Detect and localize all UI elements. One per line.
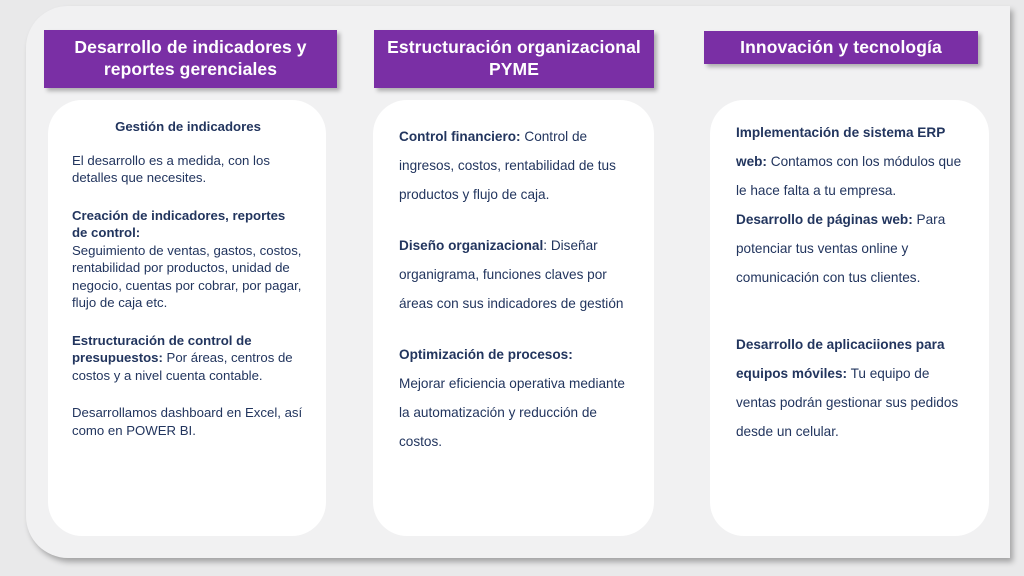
column-1-block-1: El desarrollo es a medida, con los detal… bbox=[72, 152, 304, 187]
column-1-block-2-text: Seguimiento de ventas, gastos, costos, r… bbox=[72, 243, 301, 311]
column-header-2-label: Estructuración organizacional PYME bbox=[382, 37, 646, 81]
column-3-block-1: Implementación de sistema ERP web: Conta… bbox=[736, 118, 971, 205]
column-panel-1: Gestión de indicadores El desarrollo es … bbox=[48, 100, 326, 536]
column-2-block-2-bold: Diseño organizacional bbox=[399, 238, 543, 253]
spacer bbox=[72, 187, 304, 207]
spacer bbox=[399, 209, 632, 231]
column-3-block-3: Desarrollo de aplicaciiones para equipos… bbox=[736, 330, 971, 446]
column-header-1: Desarrollo de indicadores y reportes ger… bbox=[44, 30, 337, 88]
column-3-block-2: Desarrollo de páginas web: Para potencia… bbox=[736, 205, 971, 292]
column-header-1-label: Desarrollo de indicadores y reportes ger… bbox=[52, 37, 329, 81]
column-2-block-1: Control financiero: Control de ingresos,… bbox=[399, 122, 632, 209]
column-2-block-1-bold: Control financiero: bbox=[399, 129, 521, 144]
spacer bbox=[399, 318, 632, 340]
column-1-block-3: Estructuración de control de presupuesto… bbox=[72, 332, 304, 385]
slide-root: Desarrollo de indicadores y reportes ger… bbox=[0, 0, 1024, 576]
column-2-block-3-bold: Optimización de procesos: bbox=[399, 347, 573, 362]
spacer bbox=[72, 384, 304, 404]
column-panel-2: Control financiero: Control de ingresos,… bbox=[373, 100, 654, 536]
column-2-block-3-text: Mejorar eficiencia operativa mediante la… bbox=[399, 376, 625, 449]
column-2-block-2: Diseño organizacional: Diseñar organigra… bbox=[399, 231, 632, 318]
column-panel-3: Implementación de sistema ERP web: Conta… bbox=[710, 100, 989, 536]
column-1-block-1-text: El desarrollo es a medida, con los detal… bbox=[72, 153, 270, 186]
column-1-block-2: Creación de indicadores, reportes de con… bbox=[72, 207, 304, 312]
column-header-3: Innovación y tecnología bbox=[704, 31, 978, 64]
column-1-block-4-text: Desarrollamos dashboard en Excel, así co… bbox=[72, 405, 302, 438]
column-1-heading: Gestión de indicadores bbox=[72, 118, 304, 136]
column-1-block-4: Desarrollamos dashboard en Excel, así co… bbox=[72, 404, 304, 439]
spacer bbox=[72, 136, 304, 152]
column-header-3-label: Innovación y tecnología bbox=[740, 37, 942, 59]
spacer bbox=[72, 312, 304, 332]
column-1-block-2-bold: Creación de indicadores, reportes de con… bbox=[72, 208, 285, 241]
column-header-2: Estructuración organizacional PYME bbox=[374, 30, 654, 88]
column-2-block-3: Optimización de procesos: Mejorar eficie… bbox=[399, 340, 632, 456]
column-3-block-2-bold: Desarrollo de páginas web: bbox=[736, 212, 913, 227]
spacer bbox=[736, 292, 971, 330]
column-3-block-1-text: Contamos con los módulos que le hace fal… bbox=[736, 154, 961, 198]
